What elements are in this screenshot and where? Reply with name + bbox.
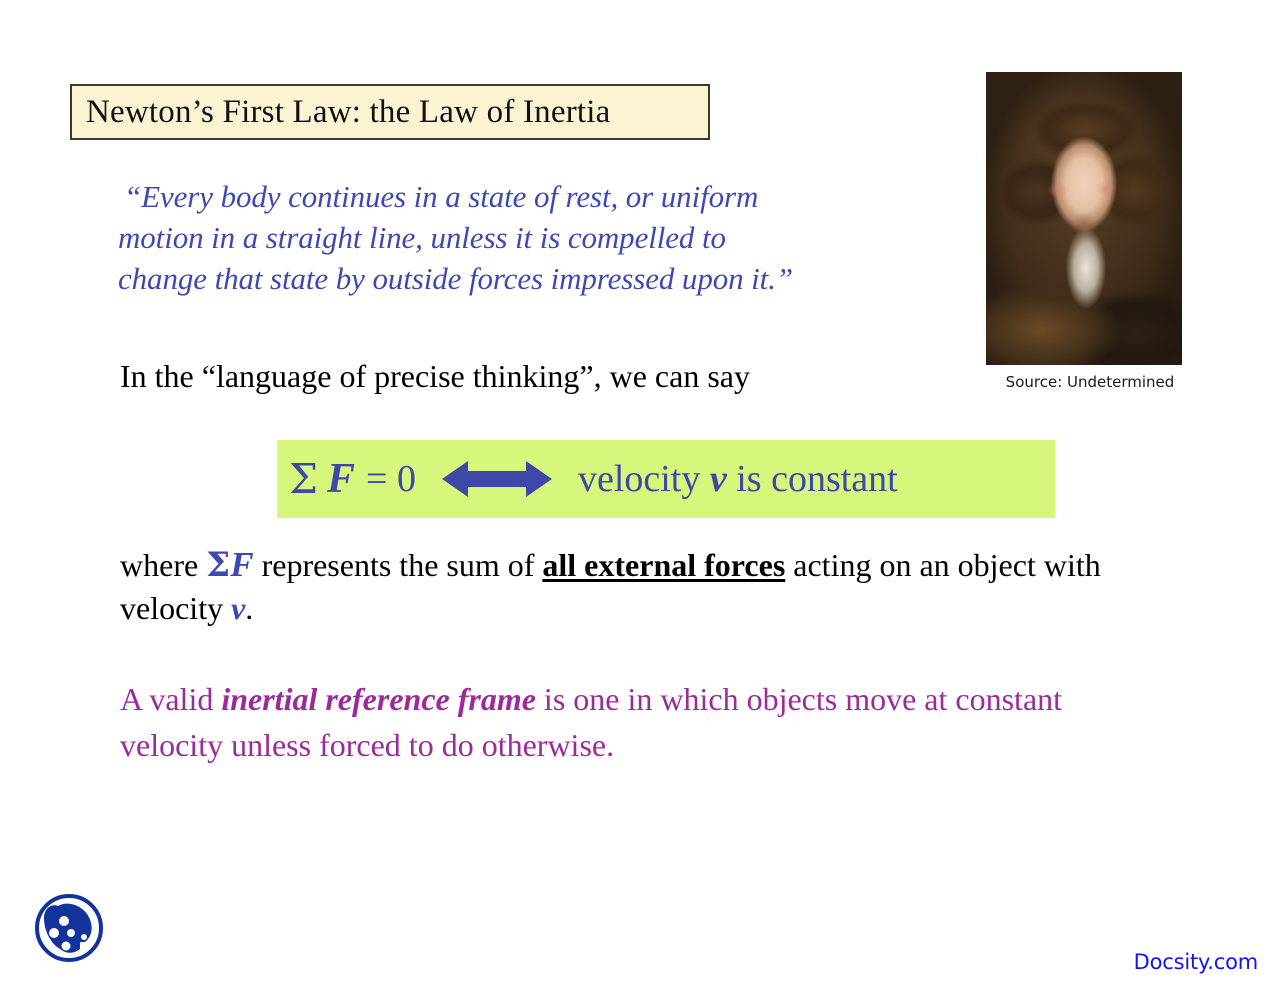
sigma-symbol: Σ	[289, 459, 318, 500]
force-symbol: F	[327, 458, 355, 500]
consequence-suffix: is constant	[727, 458, 898, 500]
slide-title-box: Newton’s First Law: the Law of Inertia	[70, 84, 710, 140]
force-symbol-inline: F	[230, 545, 253, 584]
equation-relation: = 0	[366, 460, 416, 498]
double-headed-arrow-icon	[442, 459, 552, 499]
inertial-reference-frame-emphasis: inertial reference frame	[221, 681, 536, 717]
docsity-url-label[interactable]: Docsity.com	[1134, 950, 1258, 974]
where-end: .	[245, 590, 253, 626]
where-middle: represents the sum of	[254, 547, 543, 583]
precise-thinking-line: In the “language of precise thinking”, w…	[120, 358, 750, 395]
all-external-forces-emphasis: all external forces	[542, 547, 785, 583]
equation-consequence: velocity v is constant	[578, 460, 898, 498]
portrait-image	[986, 72, 1182, 365]
frame-prefix: A valid	[120, 681, 221, 717]
equation-highlight-box: Σ F = 0 velocity v is constant	[277, 440, 1055, 518]
where-prefix: where	[120, 547, 206, 583]
where-paragraph: where ΣF represents the sum of all exter…	[120, 543, 1120, 630]
inertial-frame-paragraph: A valid inertial reference frame is one …	[120, 676, 1140, 768]
quote-line-1: “Every body continues in a state of rest…	[118, 176, 948, 217]
page-title: Newton’s First Law: the Law of Inertia	[72, 94, 610, 131]
sigma-symbol-inline: Σ	[206, 545, 230, 585]
quote-line-3: change that state by outside forces impr…	[118, 258, 948, 299]
newton-portrait	[986, 72, 1182, 365]
consequence-prefix: velocity	[578, 458, 710, 500]
velocity-symbol-inline: v	[231, 590, 245, 626]
newton-quote: “Every body continues in a state of rest…	[118, 176, 948, 299]
portrait-source-caption: Source: Undetermined	[990, 373, 1190, 391]
velocity-symbol: v	[710, 458, 727, 500]
quote-line-2: motion in a straight line, unless it is …	[118, 217, 948, 258]
docsity-logo[interactable]	[30, 890, 108, 968]
